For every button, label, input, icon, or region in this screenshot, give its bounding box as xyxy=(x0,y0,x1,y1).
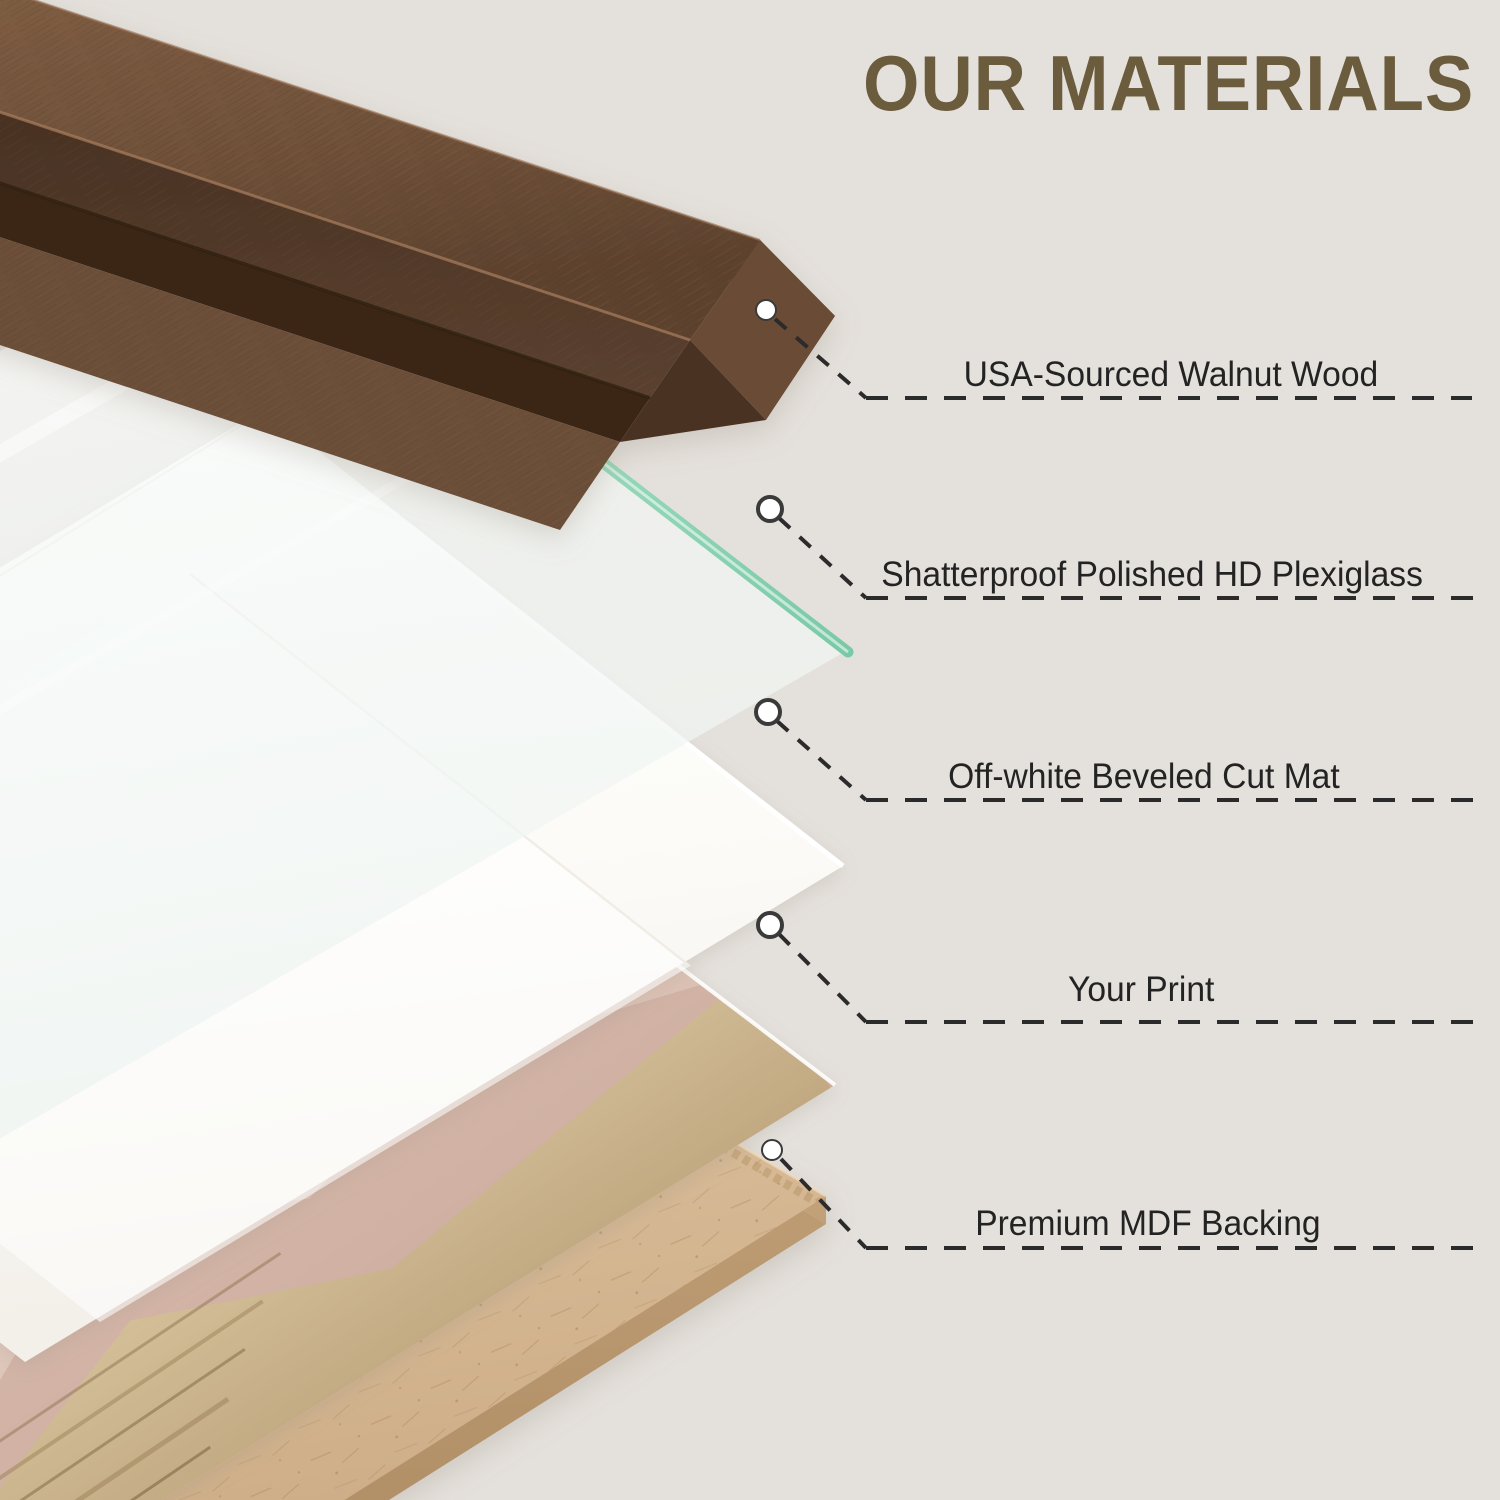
leader-diagonal xyxy=(779,934,866,1022)
callout-dot-your-print[interactable] xyxy=(758,913,782,937)
callout-leader-lines xyxy=(0,0,1500,1500)
callout-dot-walnut-wood[interactable] xyxy=(756,300,776,320)
exploded-frame-illustration xyxy=(0,0,1500,1500)
page-title: OUR MATERIALS xyxy=(863,44,1474,122)
leader-diagonal xyxy=(779,518,866,598)
infographic-canvas: OUR MATERIALS USA-Sourced Walnut WoodSha… xyxy=(0,0,1500,1500)
callout-dot-cut-mat[interactable] xyxy=(756,700,780,724)
leader-diagonal xyxy=(775,319,866,398)
callout-label-cut-mat: Off-white Beveled Cut Mat xyxy=(948,757,1340,797)
callout-label-plexiglass: Shatterproof Polished HD Plexiglass xyxy=(881,555,1423,595)
leader-diagonal xyxy=(777,721,866,800)
callout-label-mdf-backing: Premium MDF Backing xyxy=(975,1204,1320,1244)
callout-dot-mdf-backing[interactable] xyxy=(762,1140,782,1160)
callout-label-walnut-wood: USA-Sourced Walnut Wood xyxy=(964,355,1379,395)
callout-dot-plexiglass[interactable] xyxy=(758,497,782,521)
leader-diagonal xyxy=(781,1159,866,1248)
callout-label-your-print: Your Print xyxy=(1068,970,1214,1010)
